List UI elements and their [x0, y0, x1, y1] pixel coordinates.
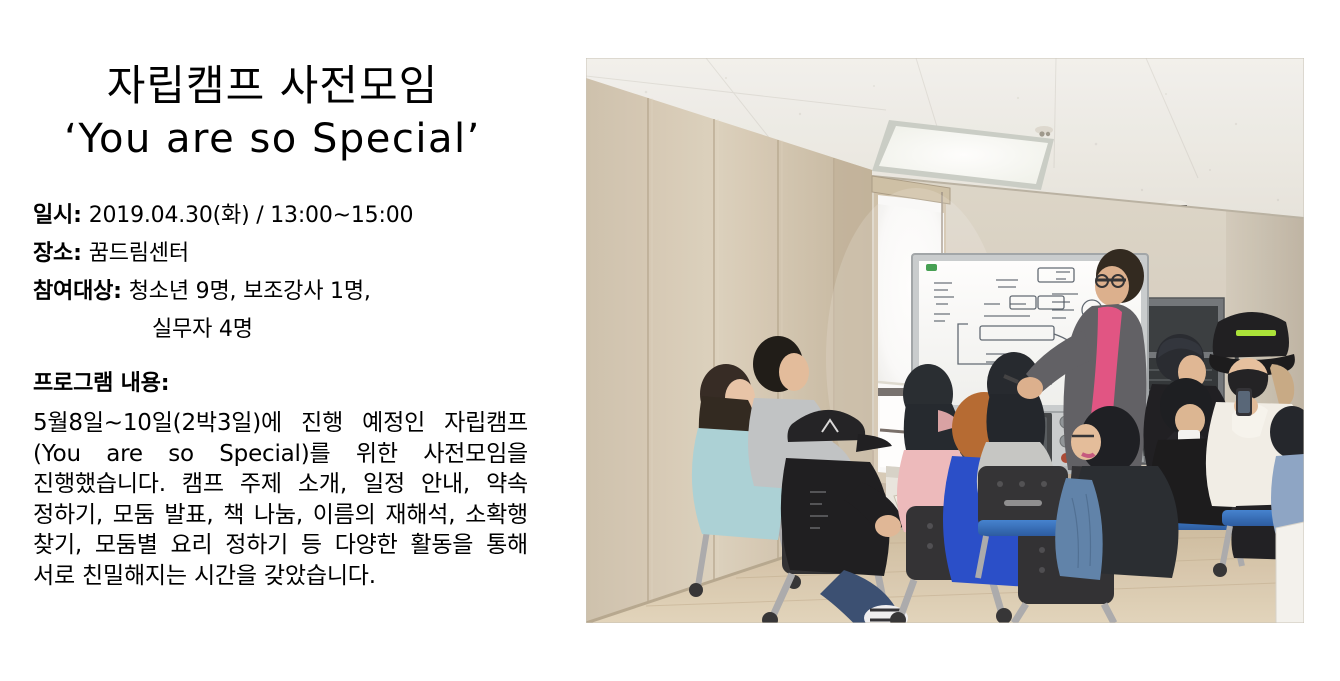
- page-title-korean: 자립캠프 사전모임: [0, 60, 545, 112]
- event-photo-illustration: [586, 58, 1304, 623]
- program-body-text: 5월8일~10일(2박3일)에 진행 예정인 자립캠프(You are so S…: [33, 408, 528, 591]
- info-value-location: 꿈드림센터: [89, 241, 189, 266]
- event-info-block: 일시: 2019.04.30(화) / 13:00~15:00 장소: 꿈드림센…: [33, 197, 533, 349]
- photo-color-tint: [586, 58, 1304, 623]
- info-value-participants: 청소년 9명, 보조강사 1명,: [129, 279, 371, 304]
- info-row-datetime: 일시: 2019.04.30(화) / 13:00~15:00: [33, 197, 533, 235]
- info-value-participants-continuation: 실무자 4명: [33, 311, 533, 349]
- text-column: 자립캠프 사전모임 ‘You are so Special’ 일시: 2019.…: [0, 0, 560, 681]
- program-heading: 프로그램 내용:: [33, 368, 169, 400]
- page-title-english: ‘You are so Special’: [0, 114, 545, 164]
- info-value-datetime: 2019.04.30(화) / 13:00~15:00: [89, 203, 414, 228]
- title-block: 자립캠프 사전모임 ‘You are so Special’: [0, 60, 545, 164]
- poster-page: 자립캠프 사전모임 ‘You are so Special’ 일시: 2019.…: [0, 0, 1340, 681]
- info-row-location: 장소: 꿈드림센터: [33, 235, 533, 273]
- event-photo: [586, 58, 1304, 623]
- info-row-participants: 참여대상: 청소년 9명, 보조강사 1명,: [33, 273, 533, 311]
- info-label-datetime: 일시:: [33, 203, 82, 228]
- info-label-participants: 참여대상:: [33, 279, 122, 304]
- info-label-location: 장소:: [33, 241, 82, 266]
